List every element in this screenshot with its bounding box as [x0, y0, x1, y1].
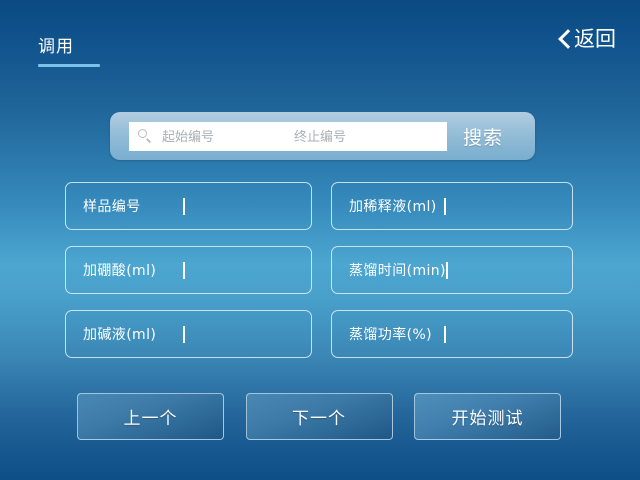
parameter-fields: 样品编号 加稀释液(ml) 加硼酸(ml) 蒸馏时间(min): [65, 182, 573, 374]
search-input-group[interactable]: [129, 122, 447, 151]
start-test-button[interactable]: 开始测试: [414, 393, 561, 440]
field-sample-number[interactable]: 样品编号: [65, 182, 312, 230]
field-separator: [183, 198, 185, 215]
field-label: 蒸馏功率(%): [349, 324, 432, 344]
field-separator: [444, 326, 446, 343]
previous-button[interactable]: 上一个: [77, 393, 224, 440]
search-bar: 搜索: [110, 112, 535, 160]
field-label: 加硼酸(ml): [83, 260, 156, 280]
field-boric-acid-ml[interactable]: 加硼酸(ml): [65, 246, 312, 294]
field-separator: [446, 262, 448, 279]
search-button[interactable]: 搜索: [463, 123, 503, 150]
header-bar: 调用 返回: [0, 0, 640, 76]
field-row: 样品编号 加稀释液(ml): [65, 182, 573, 230]
field-row: 加硼酸(ml) 蒸馏时间(min): [65, 246, 573, 294]
back-button[interactable]: 返回: [557, 26, 616, 52]
search-end-input[interactable]: [294, 129, 434, 144]
field-distill-time-min[interactable]: 蒸馏时间(min): [331, 246, 573, 294]
field-label: 加碱液(ml): [83, 324, 156, 344]
tab-active-underline: [38, 64, 100, 67]
chevron-left-icon: [557, 28, 571, 50]
field-label: 蒸馏时间(min): [349, 260, 446, 280]
field-label: 加稀释液(ml): [349, 196, 437, 216]
tab-diaoyong[interactable]: 调用: [38, 36, 74, 58]
field-row: 加碱液(ml) 蒸馏功率(%): [65, 310, 573, 358]
field-separator: [183, 262, 185, 279]
app-screen: 调用 返回 搜索 样品编号 加稀释液(ml): [0, 0, 640, 480]
field-separator: [183, 326, 185, 343]
field-alkali-ml[interactable]: 加碱液(ml): [65, 310, 312, 358]
back-button-label: 返回: [574, 26, 616, 52]
next-button[interactable]: 下一个: [246, 393, 393, 440]
field-distill-power-percent[interactable]: 蒸馏功率(%): [331, 310, 573, 358]
field-diluent-ml[interactable]: 加稀释液(ml): [331, 182, 573, 230]
search-icon: [138, 129, 152, 143]
action-bar: 上一个 下一个 开始测试: [77, 393, 561, 440]
field-label: 样品编号: [83, 196, 141, 216]
search-start-input[interactable]: [162, 129, 282, 144]
field-separator: [444, 198, 446, 215]
